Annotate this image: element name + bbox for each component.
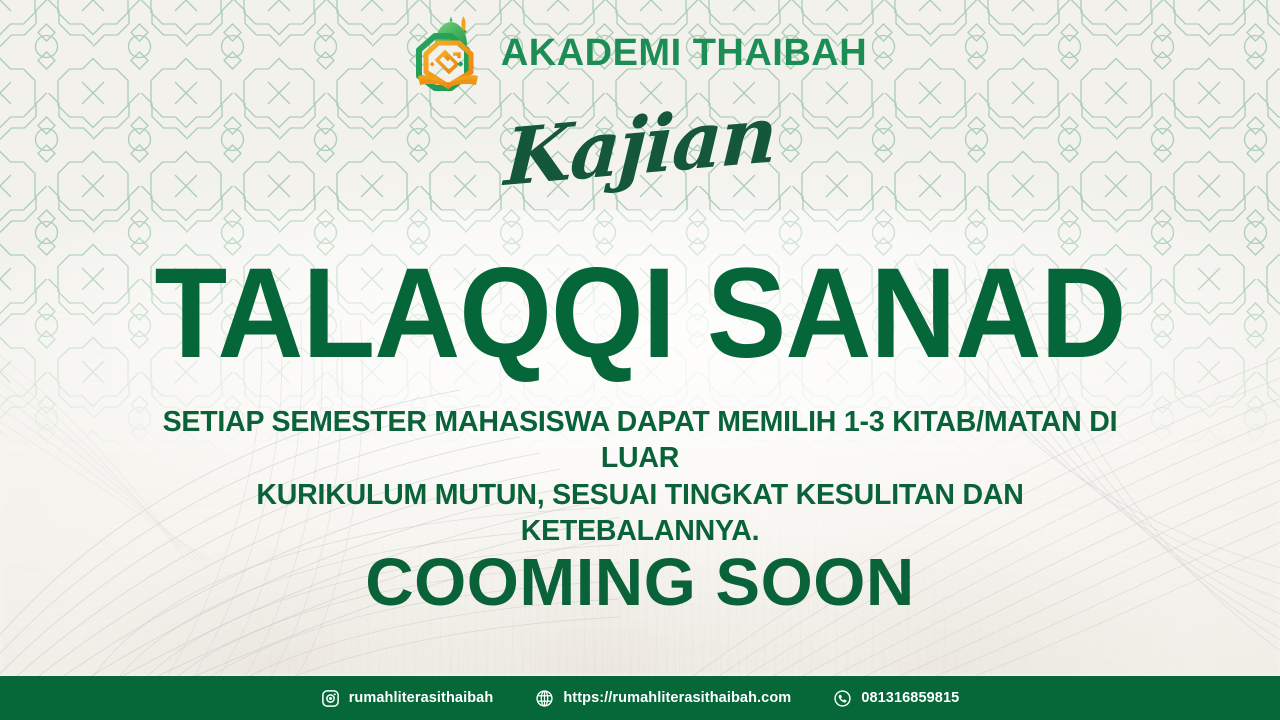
footer-item-phone[interactable]: 081316859815 — [833, 689, 959, 708]
globe-icon — [535, 689, 554, 708]
open-book-shape — [418, 75, 478, 89]
page-title: TALAQQI SANAD — [45, 250, 1235, 378]
footer-phone-number: 081316859815 — [861, 690, 959, 706]
mosque-book-logo-icon — [413, 14, 485, 92]
phone-icon — [833, 689, 852, 708]
footer-instagram-handle: rumahliterasithaibah — [349, 690, 494, 706]
footer-contact-bar: rumahliterasithaibah https://rumahlitera… — [0, 676, 1280, 720]
subtitle-text: SETIAP SEMESTER MAHASISWA DAPAT MEMILIH … — [135, 404, 1145, 550]
status-badge: COOMING SOON — [0, 549, 1280, 616]
brand-name: AKADEMI THAIBAH — [501, 32, 867, 75]
footer-item-website[interactable]: https://rumahliterasithaibah.com — [535, 689, 791, 708]
footer-website-url: https://rumahliterasithaibah.com — [563, 690, 791, 706]
subtitle-line-1: SETIAP SEMESTER MAHASISWA DAPAT MEMILIH … — [135, 404, 1145, 477]
footer-item-instagram[interactable]: rumahliterasithaibah — [321, 689, 494, 708]
instagram-icon — [321, 689, 340, 708]
poster-canvas: AKADEMI THAIBAH Kajian TALAQQI SANAD SET… — [0, 0, 1280, 720]
subtitle-line-2: KURIKULUM MUTUN, SESUAI TINGKAT KESULITA… — [135, 477, 1145, 550]
